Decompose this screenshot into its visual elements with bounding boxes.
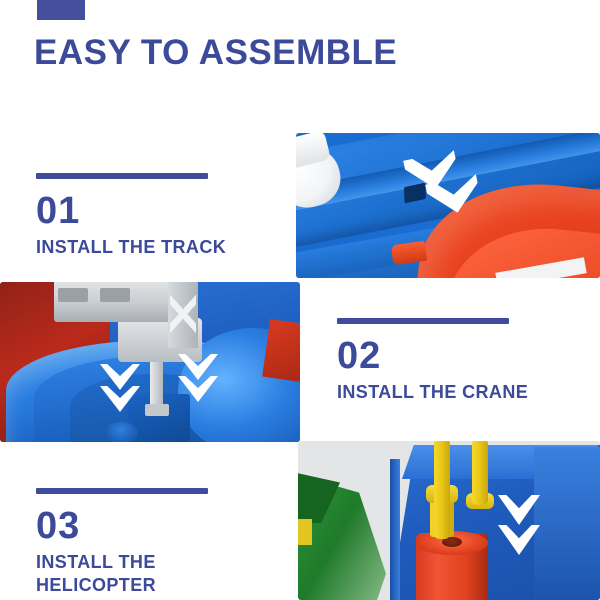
crane-tower-lattice [170,288,196,340]
chevron-arrow-shape [498,525,540,555]
crane-hook-shaft [150,354,163,410]
red-panel-right [262,319,300,383]
step-number: 02 [337,335,528,377]
step-02: 02 INSTALL THE CRANE [337,318,528,404]
step-divider-rule [337,318,509,324]
crane-photo [0,282,300,442]
step-01: 01 INSTALL THE TRACK [36,173,226,259]
yellow-post [434,441,450,539]
chevron-arrow-icon [178,376,218,402]
step-label: INSTALL THE HELICOPTER [36,551,208,597]
step-number: 01 [36,190,226,232]
track-port-hole [104,422,138,442]
yellow-post [472,441,488,505]
chevron-arrow-icon [498,495,540,525]
crane-arm-notch [58,288,88,302]
step-03: 03 INSTALL THE HELICOPTER [36,488,208,597]
accent-bar [37,0,85,20]
page-title: EASY TO ASSEMBLE [34,31,397,75]
track-photo [296,133,600,278]
chevron-arrow-shape [178,376,218,402]
helicopter-photo-scene [298,441,600,600]
crane-hook-base [145,404,169,416]
blue-base-right-panel [534,447,600,600]
chevron-arrow-shape [498,495,540,525]
crane-arm-notch [100,288,130,302]
crane-photo-scene [0,282,300,442]
blue-base-left-edge [390,459,400,600]
step-label: INSTALL THE CRANE [337,381,528,404]
step-divider-rule [36,173,208,179]
chevron-arrow-icon [498,525,540,555]
chevron-arrow-shape [100,386,140,412]
step-divider-rule [36,488,208,494]
step-label: INSTALL THE TRACK [36,236,226,259]
yellow-piece [298,519,312,545]
chevron-arrow-icon [100,386,140,412]
step-number: 03 [36,505,208,547]
track-photo-scene [296,133,600,278]
infographic-page: EASY TO ASSEMBLE [0,0,600,600]
helicopter-photo [298,441,600,600]
